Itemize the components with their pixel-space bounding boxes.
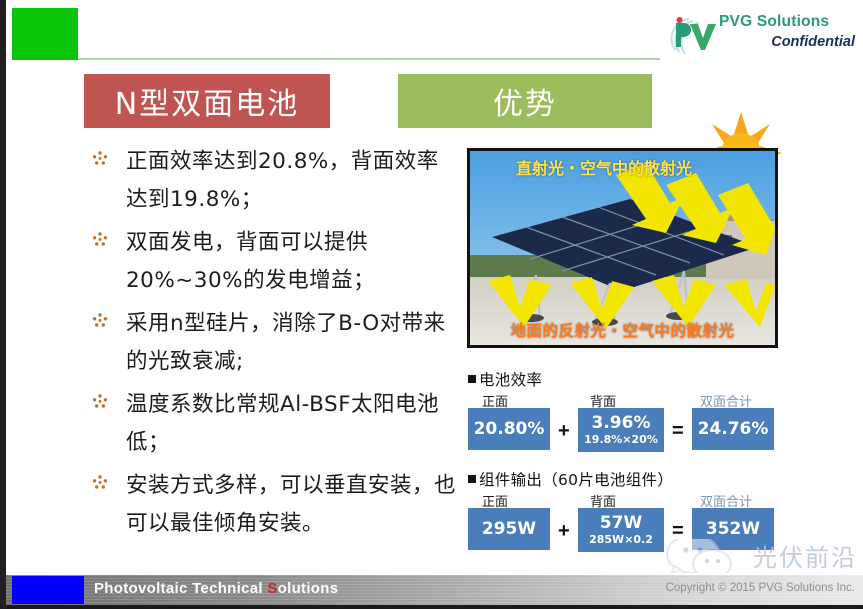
module-output-title: 组件输出（60片电池组件） — [468, 468, 788, 490]
operator-equals: = — [672, 420, 684, 443]
footer-bottom-edge — [6, 605, 863, 609]
brand-name: PVG Solutions — [719, 13, 855, 31]
bullet-square-icon — [468, 375, 476, 383]
list-item-label: 采用n型硅片，消除了B-O对带来的光致衰减; — [126, 305, 458, 381]
operator-plus: + — [558, 420, 570, 443]
list-item-label: 安装方式多样，可以垂直安装，也可以最佳倾角安装。 — [126, 467, 458, 543]
list-item: 双面发电，背面可以提供20%~30%的发电增益； — [88, 224, 458, 300]
green-accent-block — [12, 8, 78, 60]
photo-caption-top: 直射光・空气中的散射光 — [484, 158, 724, 180]
list-item: 采用n型硅片，消除了B-O对带来的光致衰减; — [88, 305, 458, 381]
list-item-label: 正面效率达到20.8%，背面效率达到19.8%； — [126, 143, 458, 219]
list-item: 温度系数比常规Al-BSF太阳电池低； — [88, 386, 458, 462]
photo-caption-bottom: 地面的反射光・空气中的散射光 — [476, 319, 769, 341]
footer: Photovoltaic Technical Solutions Copyrig… — [6, 575, 863, 609]
list-item: 安装方式多样，可以垂直安装，也可以最佳倾角安装。 — [88, 467, 458, 543]
banner-advantage: 优势 — [398, 74, 652, 128]
header-divider — [78, 58, 660, 60]
banner-product-title: N型双面电池 — [84, 74, 330, 128]
value-front: 295W — [468, 508, 550, 550]
pvg-leaf-logo-icon — [665, 14, 717, 56]
footer-title: Photovoltaic Technical Solutions — [94, 580, 338, 597]
module-output-headers: 正面 背面 双面合计 — [468, 491, 788, 508]
cell-efficiency-row: 20.80% + 3.96% 19.8%×20% = 24.76% — [468, 408, 788, 454]
list-item: 正面效率达到20.8%，背面效率达到19.8%； — [88, 143, 458, 219]
list-item-label: 温度系数比常规Al-BSF太阳电池低； — [126, 386, 458, 462]
star-bullet-icon — [92, 312, 108, 328]
brand-confidential: Confidential — [719, 34, 855, 50]
value-total: 24.76% — [692, 408, 774, 450]
footer-blue-block — [12, 576, 84, 604]
bifacial-solar-array-photo: 直射光・空气中的散射光 地面的反射光・空气中的散射光 — [467, 148, 778, 348]
star-bullet-icon — [92, 474, 108, 490]
list-item-label: 双面发电，背面可以提供20%~30%的发电增益； — [126, 224, 458, 300]
advantages-list: 正面效率达到20.8%，背面效率达到19.8%； 双面发电，背面可以提供20%~… — [88, 143, 458, 548]
cell-efficiency-headers: 正面 背面 双面合计 — [468, 391, 788, 408]
cell-efficiency-block: 电池效率 正面 背面 双面合计 20.80% + 3.96% 19.8%×20%… — [468, 368, 788, 454]
photo-graphic — [470, 151, 775, 345]
brand-lockup: PVG Solutions Confidential — [665, 12, 855, 60]
value-front: 20.80% — [468, 408, 550, 450]
footer-title-suffix: olutions — [278, 580, 339, 597]
footer-title-prefix: Photovoltaic Technical — [94, 580, 267, 597]
star-bullet-icon — [92, 231, 108, 247]
slide-canvas: PVG Solutions Confidential N型双面电池 优势 正面效… — [0, 0, 863, 609]
star-bullet-icon — [92, 150, 108, 166]
footer-copyright: Copyright © 2015 PVG Solutions Inc. — [666, 582, 855, 594]
star-bullet-icon — [92, 393, 108, 409]
operator-plus: + — [558, 520, 570, 543]
cell-efficiency-title: 电池效率 — [468, 368, 788, 390]
value-rear: 57W 285W×0.2 — [578, 508, 664, 552]
footer-title-highlight: S — [267, 580, 277, 597]
watermark-text: 光伏前沿 — [753, 538, 857, 573]
bullet-square-icon — [468, 475, 476, 483]
value-rear: 3.96% 19.8%×20% — [578, 408, 664, 452]
